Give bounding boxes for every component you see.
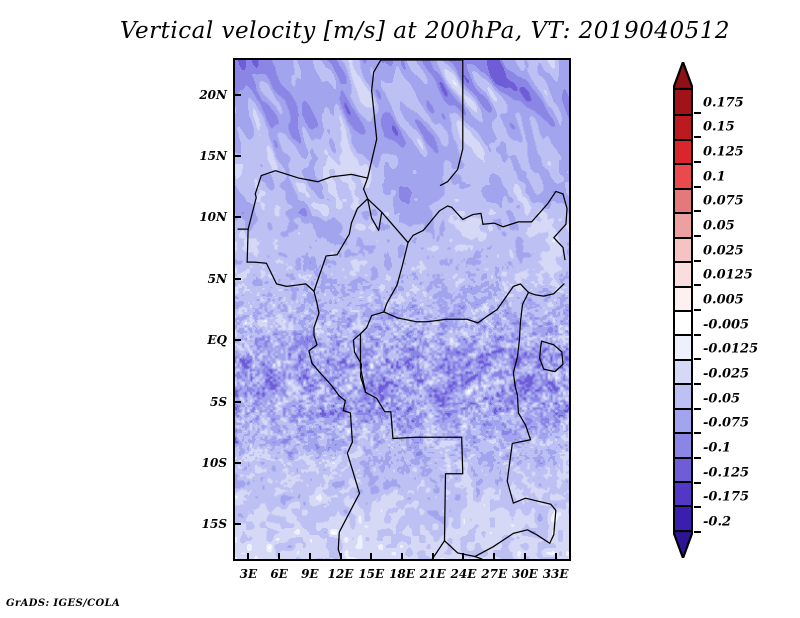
lon-tick-label-4: 15E [358,567,384,581]
lon-tick-label-10: 33E [543,567,569,581]
lon-tick [432,553,434,560]
colorbar-tick [694,186,701,188]
colorbar-band-6 [675,237,691,261]
lon-tick-label-6: 21E [420,567,446,581]
lat-tick [234,339,241,341]
lat-tick-label-2: 10N [181,210,227,224]
colorbar-label-8: 0.005 [703,293,744,308]
colorbar-band-10 [675,334,691,358]
colorbar-band-13 [675,408,691,432]
lon-tick [309,553,311,560]
colorbar-band-17 [675,505,691,529]
colorbar-band-0 [675,90,691,114]
colorbar-band-1 [675,114,691,138]
lon-tick [401,553,403,560]
colorbar-tick [694,284,701,286]
colorbar-tick [694,432,701,434]
colorbar-label-10: -0.0125 [703,342,758,357]
colorbar-label-5: 0.05 [703,219,735,234]
colorbar-band-9 [675,310,691,334]
lon-tick-label-9: 30E [512,567,538,581]
colorbar-tick [694,210,701,212]
colorbar-tick [694,482,701,484]
lon-tick-label-5: 18E [389,567,415,581]
lat-tick-label-1: 15N [181,149,227,163]
colorbar-tick [694,136,701,138]
lon-tick [493,553,495,560]
lat-tick-label-7: 15S [181,517,227,531]
colorbar-tick [694,358,701,360]
lon-tick [462,553,464,560]
colorbar-band-12 [675,383,691,407]
lat-tick [234,155,241,157]
colorbar-band-16 [675,481,691,505]
grads-credit: GrADS: IGES/COLA [6,598,120,609]
colorbar [673,62,693,558]
colorbar-band-3 [675,163,691,187]
colorbar-tick [694,408,701,410]
colorbar-band-8 [675,286,691,310]
colorbar-bands [673,88,693,532]
lat-tick-label-5: 5S [181,395,227,409]
colorbar-label-3: 0.1 [703,169,726,184]
colorbar-band-14 [675,432,691,456]
colorbar-label-6: 0.025 [703,243,744,258]
colorbar-label-12: -0.05 [703,391,740,406]
lon-tick-label-7: 24E [451,567,477,581]
colorbar-label-0: 0.175 [703,95,744,110]
colorbar-tick [694,383,701,385]
lon-tick-label-2: 9E [301,567,319,581]
colorbar-tick [694,531,701,533]
colorbar-tick [694,334,701,336]
lon-tick [247,553,249,560]
colorbar-tick [694,506,701,508]
colorbar-label-15: -0.125 [703,465,749,480]
colorbar-band-5 [675,212,691,236]
lat-tick [234,278,241,280]
colorbar-tick [694,309,701,311]
colorbar-label-11: -0.025 [703,367,749,382]
colorbar-band-11 [675,359,691,383]
colorbar-band-4 [675,188,691,212]
lat-tick [234,523,241,525]
colorbar-label-13: -0.075 [703,416,749,431]
colorbar-band-7 [675,261,691,285]
colorbar-label-7: 0.0125 [703,268,753,283]
colorbar-label-1: 0.15 [703,120,735,135]
lon-tick [340,553,342,560]
lat-tick-label-4: EQ [181,333,227,347]
lon-tick [370,553,372,560]
colorbar-label-2: 0.125 [703,145,744,160]
lat-tick-label-6: 10S [181,456,227,470]
colorbar-label-4: 0.075 [703,194,744,209]
lat-tick [234,401,241,403]
lon-tick-label-1: 6E [270,567,288,581]
colorbar-label-17: -0.2 [703,515,731,530]
colorbar-band-15 [675,457,691,481]
map-plot-area [233,58,571,561]
lon-tick [555,553,557,560]
lon-tick [278,553,280,560]
lat-tick-label-0: 20N [181,88,227,102]
page-title: Vertical velocity [m/s] at 200hPa, VT: 2… [0,18,800,44]
colorbar-tick [694,112,701,114]
lon-tick-label-0: 3E [240,567,258,581]
colorbar-tick [694,260,701,262]
colorbar-label-14: -0.1 [703,441,731,456]
lon-tick [524,553,526,560]
lon-tick-label-8: 27E [481,567,507,581]
colorbar-tick [694,161,701,163]
lon-tick-label-3: 12E [328,567,354,581]
colorbar-tick [694,235,701,237]
vertical-velocity-shading [235,60,569,559]
lat-tick [234,94,241,96]
colorbar-tick [694,457,701,459]
colorbar-bottom-arrow-icon [673,530,693,558]
colorbar-band-2 [675,139,691,163]
colorbar-label-9: -0.005 [703,317,749,332]
lat-tick-label-3: 5N [181,272,227,286]
colorbar-label-16: -0.175 [703,490,749,505]
lat-tick [234,216,241,218]
lat-tick [234,462,241,464]
colorbar-top-arrow-icon [673,62,693,90]
